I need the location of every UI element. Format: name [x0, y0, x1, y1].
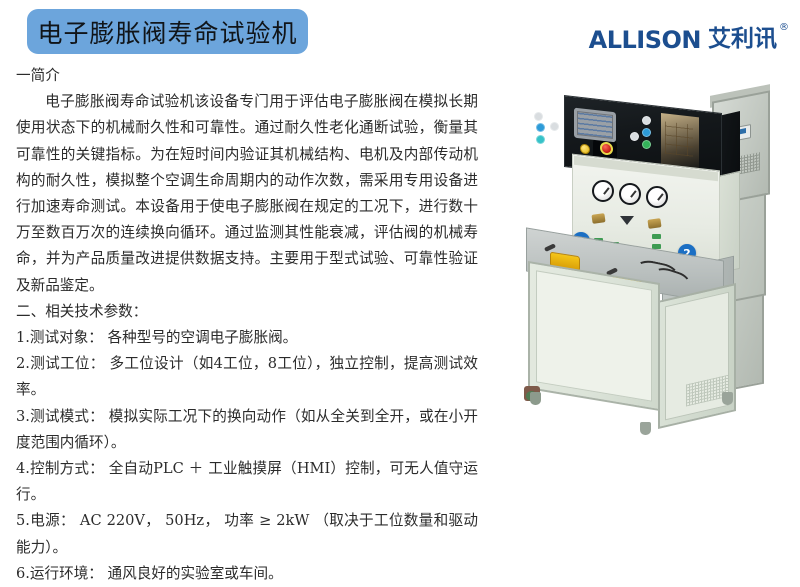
green-valve-block	[652, 234, 661, 239]
test-bench-machine: 1 2	[512, 92, 800, 444]
section-2-heading: 二、相关技术参数：	[16, 299, 478, 325]
pressure-gauge-icon	[619, 183, 641, 205]
registered-trademark-icon: ®	[779, 23, 789, 33]
page-title: 电子膨胀阀寿命试验机	[37, 14, 297, 50]
brand-logo: ALLISON 艾利讯 ®	[589, 28, 789, 52]
param-item: 2.测试工位： 多工位设计（如4工位，8工位），独立控制，提高测试效率。	[16, 351, 478, 403]
section-1-heading: 一简介	[16, 63, 478, 89]
brand-logo-latin: ALLISON	[589, 28, 701, 52]
param-item: 4.控制方式： 全自动PLC ＋ 工业触摸屏（HMI）控制，可无人值守运行。	[16, 456, 478, 508]
param-item: 1.测试对象： 各种型号的空调电子膨胀阀。	[16, 325, 478, 351]
body-text-column: 一简介 电子膨胀阀寿命试验机该设备专门用于评估电子膨胀阀在模拟长期使用状态下的机…	[16, 63, 478, 587]
param-item: 6.运行环境： 通风良好的实验室或车间。	[16, 561, 478, 587]
brass-fitting	[591, 213, 605, 224]
pressure-gauge-icon	[592, 180, 614, 202]
indicator-lamp-white[interactable]	[550, 122, 559, 131]
param-item: 3.测试模式： 模拟实际工况下的换向动作（如从全关到全开，或在小开度范围内循环）…	[16, 404, 478, 456]
brass-fitting	[647, 218, 661, 229]
indicator-lamp-blue[interactable]	[536, 123, 545, 132]
param-item: 5.电源： AC 220V， 50Hz， 功率 ≥ 2kW （取决于工位数量和驱…	[16, 508, 478, 560]
indicator-lamp-green[interactable]	[642, 140, 651, 149]
hmi-touchscreen[interactable]	[574, 108, 616, 143]
hmi-screen-display	[577, 111, 613, 139]
indicator-lamp-blue[interactable]	[642, 128, 651, 137]
base-cabinet-side	[658, 283, 736, 429]
pressure-gauge-icon	[646, 186, 668, 208]
base-cabinet-front	[528, 261, 660, 411]
indicator-lamp-white[interactable]	[642, 116, 651, 125]
intro-paragraph: 电子膨胀阀寿命试验机该设备专门用于评估电子膨胀阀在模拟长期使用状态下的机械耐久性…	[16, 89, 478, 299]
yellow-reset-button[interactable]	[580, 143, 590, 154]
brand-logo-chinese: 艾利讯	[708, 28, 777, 51]
page-title-banner: 电子膨胀阀寿命试验机	[27, 9, 308, 54]
indicator-lamp-cyan[interactable]	[536, 135, 545, 144]
indicator-lamp-white[interactable]	[630, 132, 639, 141]
machine-photo: 1 2	[512, 92, 800, 444]
base-cabinet-front-panel	[536, 270, 652, 401]
leveling-foot	[640, 422, 651, 435]
leveling-foot	[722, 392, 733, 405]
indicator-lamp-white[interactable]	[534, 112, 543, 121]
slide-page: 电子膨胀阀寿命试验机 ALLISON 艾利讯 ® 一简介 电子膨胀阀寿命试验机该…	[0, 0, 800, 450]
leveling-foot	[530, 392, 541, 405]
